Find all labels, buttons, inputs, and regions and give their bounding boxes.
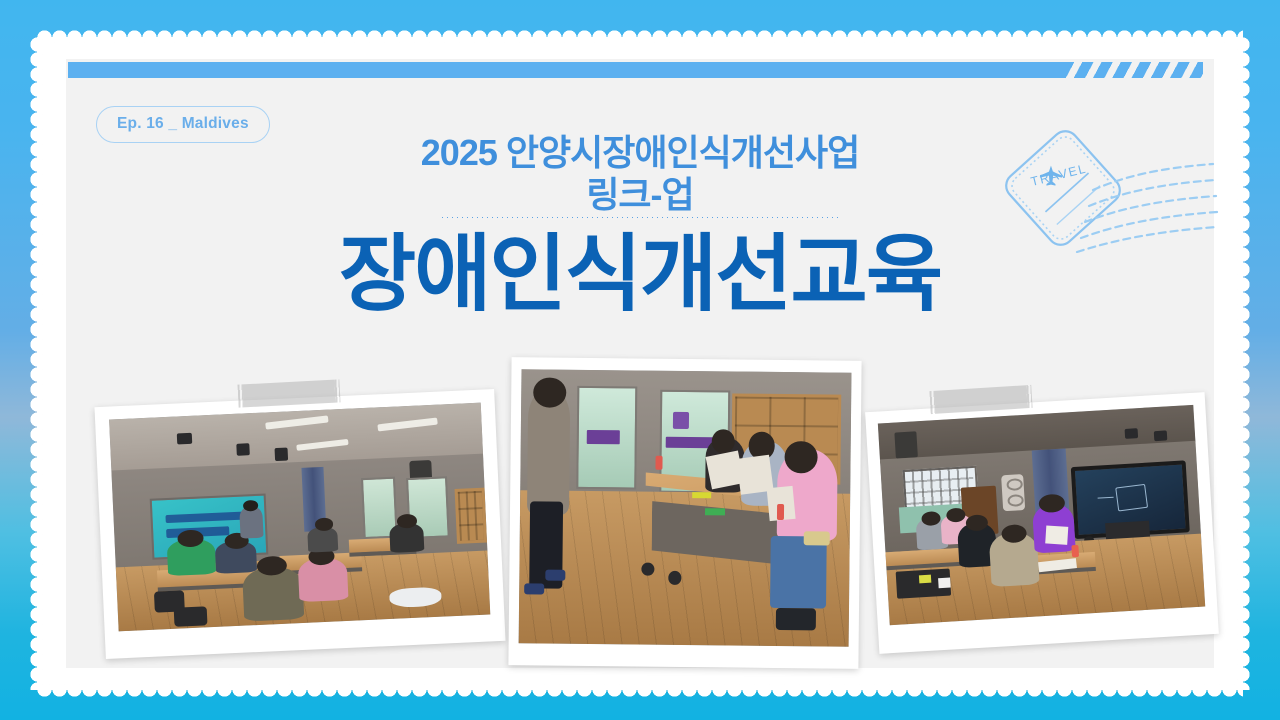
photo-center-caption: 강사가 서서 설명하고 참가자들이 책상에서 교육 자료를 살펴보는 모습 [0, 0, 1, 1]
photo-left-caption: 강의실에서 참가자들이 스크린을 보며 장애인식개선 교육을 듣고 있는 모습 [0, 0, 1, 1]
travel-stamp-graphic: TRAVEL [985, 118, 1220, 253]
diagonal-stripes-decor [1063, 62, 1203, 78]
photo-center[interactable] [508, 357, 861, 669]
photo-left[interactable] [94, 389, 505, 659]
top-rule-bar [68, 62, 1063, 78]
photo-center-image [519, 369, 852, 646]
photo-left-image [109, 403, 490, 632]
photo-right[interactable] [865, 392, 1219, 654]
dotted-underline [440, 216, 840, 219]
cancellation-wave-lines [1077, 164, 1217, 252]
photo-right-image [878, 405, 1205, 625]
stamp-body [1001, 126, 1125, 250]
poster-canvas: Ep. 16 _ Maldives 2025 안양시장애인식개선사업 링크-업 … [0, 0, 1280, 720]
classroom-scene-left [109, 403, 490, 632]
classroom-scene-center [519, 369, 852, 646]
classroom-scene-right [878, 405, 1205, 625]
stamp-label: TRAVEL [1029, 161, 1088, 188]
photo-left-tape [242, 380, 335, 408]
photo-right-caption: 전자칠판이 있는 교실에서 참가자들이 활동지를 작성하는 모습 [0, 0, 1, 1]
subtitle-line-1: 2025 안양시장애인식개선사업 [421, 132, 859, 173]
